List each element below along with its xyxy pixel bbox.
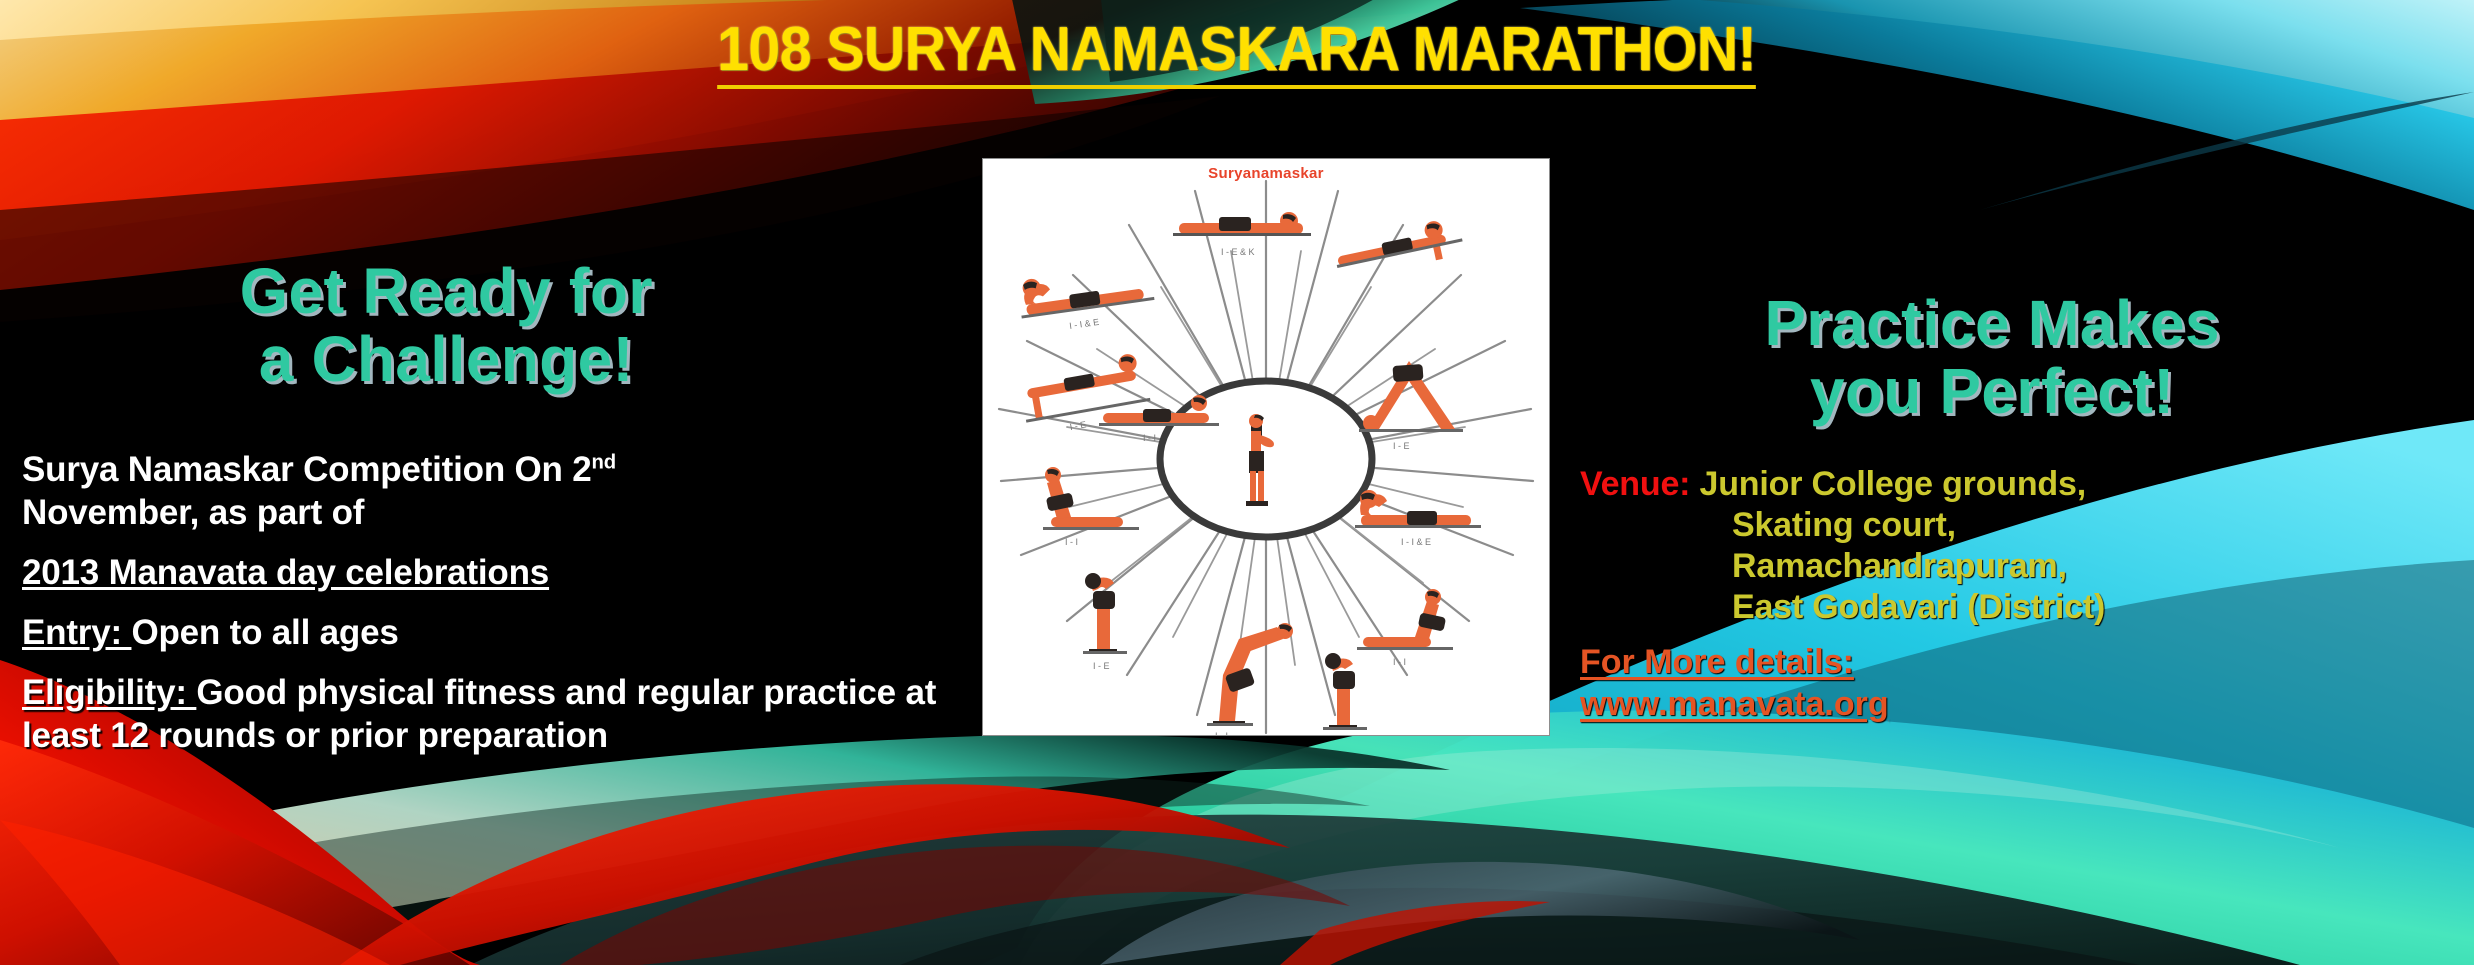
pose-7: I - I — [1207, 623, 1293, 735]
right-column: Practice Makes you Perfect! Venue: Junio… — [1580, 290, 2460, 725]
competition-ordinal-suffix: nd — [592, 451, 616, 473]
pose-4: I - I & E — [1355, 490, 1481, 547]
svg-text:I - I: I - I — [1215, 731, 1228, 735]
website-link[interactable]: www.manavata.org — [1580, 685, 1889, 723]
poster-canvas: 108 SURYA NAMASKARA MARATHON! Get Ready … — [0, 0, 2474, 965]
celebrations-line: 2013 Manavata day celebrations — [22, 551, 957, 594]
venue-label: Venue: — [1580, 465, 1700, 503]
pose-9: I - I — [1043, 467, 1139, 547]
right-headline-line2: you Perfect! — [1580, 358, 2405, 426]
venue-line2: Skating court, — [1580, 505, 2460, 546]
svg-text:I - E: I - E — [1393, 441, 1410, 451]
more-details-label: For More details: — [1580, 643, 1854, 681]
more-details-block: For More details: www.manavata.org — [1580, 642, 2460, 725]
pose-11: I - I & E — [1017, 262, 1158, 337]
competition-line2: November, as part of — [22, 493, 364, 532]
left-headline: Get Ready for a Challenge! — [22, 258, 929, 394]
right-headline: Practice Makes you Perfect! — [1580, 290, 2434, 426]
pose-2 — [1332, 216, 1465, 281]
venue-line3: Ramachandrapuram, — [1580, 546, 2460, 587]
eligibility-line: Eligibility: Good physical fitness and r… — [22, 671, 957, 757]
svg-text:I - E: I - E — [1093, 661, 1110, 671]
svg-text:I - I & E: I - I & E — [1069, 317, 1100, 331]
competition-info: Surya Namaskar Competition On 2nd Novemb… — [22, 448, 957, 534]
eligibility-label: Eligibility: — [22, 673, 196, 712]
left-column: Get Ready for a Challenge! Surya Namaska… — [22, 258, 957, 757]
celebrations-text: 2013 Manavata day celebrations — [22, 553, 549, 592]
entry-value: Open to all ages — [131, 613, 398, 652]
pose-5: I - I — [1357, 589, 1453, 667]
left-details: Surya Namaskar Competition On 2nd Novemb… — [22, 448, 957, 757]
entry-line: Entry: Open to all ages — [22, 611, 957, 654]
svg-text:I - I: I - I — [1393, 657, 1406, 667]
svg-text:I - I & E: I - I & E — [1401, 537, 1431, 547]
left-headline-line2: a Challenge! — [22, 326, 871, 394]
svg-text:I - I: I - I — [1065, 537, 1078, 547]
svg-text:I - E & K: I - E & K — [1221, 247, 1255, 257]
entry-label: Entry: — [22, 613, 131, 652]
pose-1: I - E & K — [1173, 212, 1311, 257]
venue-block: Venue: Junior College grounds, Skating c… — [1580, 464, 2460, 629]
venue-line4: East Godavari (District) — [1580, 587, 2460, 628]
title-bar: 108 SURYA NAMASKARA MARATHON! — [0, 18, 2474, 89]
venue-line1: Junior College grounds, — [1700, 465, 2086, 503]
left-headline-line1: Get Ready for — [22, 258, 871, 326]
suryanamaskar-diagram: I - E & K I - E — [983, 159, 1549, 735]
right-headline-line1: Practice Makes — [1580, 290, 2405, 358]
competition-line1: Surya Namaskar Competition On 2 — [22, 450, 592, 489]
page-title: 108 SURYA NAMASKARA MARATHON! — [718, 18, 1757, 89]
suryanamaskar-chart-card: Suryanamaskar — [983, 159, 1549, 735]
pose-8: I - E — [1083, 573, 1127, 671]
svg-text:I - I: I - I — [1143, 433, 1156, 443]
pose-10: I - E — [1018, 352, 1154, 440]
